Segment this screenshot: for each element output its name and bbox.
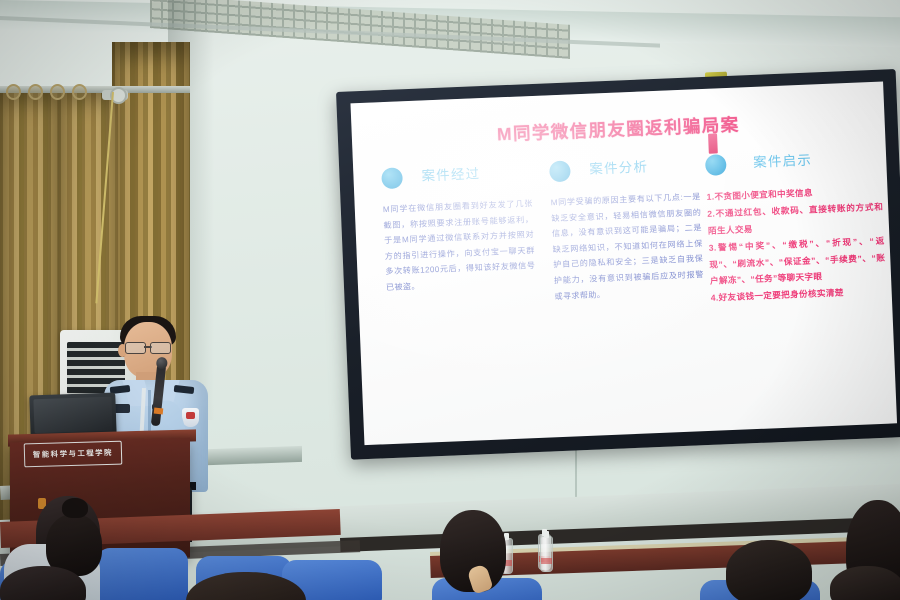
curtain-bracket: [102, 90, 128, 100]
curtain-ring: [28, 84, 43, 100]
slide-column-case-process: 案件经过 M同学在微信朋友圈看到好友发了几张截图，称按照要求注册账号能够返利，于…: [381, 158, 536, 296]
bullet-circle-icon: [381, 167, 403, 189]
column-body-text: M同学受骗的原因主要有以下几点:一是缺乏安全意识，轻易相信微信朋友圈的信息，没有…: [550, 189, 704, 304]
slide-columns: 案件经过 M同学在微信朋友圈看到好友发了几张截图，称按照要求注册账号能够返利，于…: [353, 144, 897, 446]
microphone-band: [154, 408, 164, 415]
water-bottle: [540, 536, 553, 572]
curtain-ring: [50, 84, 65, 100]
glasses-icon: [124, 342, 172, 352]
column-heading-text: 案件分析: [589, 155, 649, 177]
curtain-ring: [6, 84, 21, 100]
bullet-circle-icon: [705, 154, 727, 176]
map-pin-icon: [708, 133, 718, 153]
column-header: 案件分析: [549, 151, 700, 191]
audience-head: [830, 566, 900, 600]
lecture-hall-photo: M同学微信朋友圈返利骗局案 案件经过 M同学在微信朋友圈看到好友发了几张截图，称…: [0, 0, 900, 600]
slide-title: M同学微信朋友圈返利骗局案: [351, 106, 885, 153]
curtain-ring: [72, 84, 87, 100]
seat-cover: [96, 548, 188, 600]
column-heading-text: 案件经过: [421, 162, 481, 184]
projection-screen: M同学微信朋友圈返利骗局案 案件经过 M同学在微信朋友圈看到好友发了几张截图，称…: [336, 69, 900, 460]
column-body-text: M同学在微信朋友圈看到好友发了几张截图，称按照要求注册账号能够返利，于是M同学通…: [383, 196, 537, 296]
column-lesson-list: 1.不贪图小便宜和中奖信息 2.不通过红包、收款码、直接转账的方式和陌生人交易 …: [706, 182, 887, 307]
podium-plate-text: 智能科学与工程学院: [33, 448, 113, 460]
presentation-slide: M同学微信朋友圈返利骗局案 案件经过 M同学在微信朋友圈看到好友发了几张截图，称…: [350, 82, 897, 446]
slide-column-case-analysis: 案件分析 M同学受骗的原因主要有以下几点:一是缺乏安全意识，轻易相信微信朋友圈的…: [549, 151, 705, 304]
lesson-line: 3.警惕“中奖”、“缴税”、“折现”、“返现”、“刷流水”、“保证金”、“手续费…: [708, 233, 886, 289]
column-heading-text: 案件启示: [753, 149, 813, 171]
podium-name-plate: 智能科学与工程学院: [24, 441, 123, 468]
column-header: 案件启示: [705, 144, 882, 185]
hair-bun: [62, 498, 88, 518]
audience-head: [726, 540, 812, 600]
column-header: 案件经过: [381, 158, 532, 198]
slide-column-case-lessons: 案件启示 1.不贪图小便宜和中奖信息 2.不通过红包、收款码、直接转账的方式和陌…: [705, 144, 887, 308]
bullet-circle-icon: [549, 160, 571, 182]
police-shield-patch: [182, 408, 199, 427]
